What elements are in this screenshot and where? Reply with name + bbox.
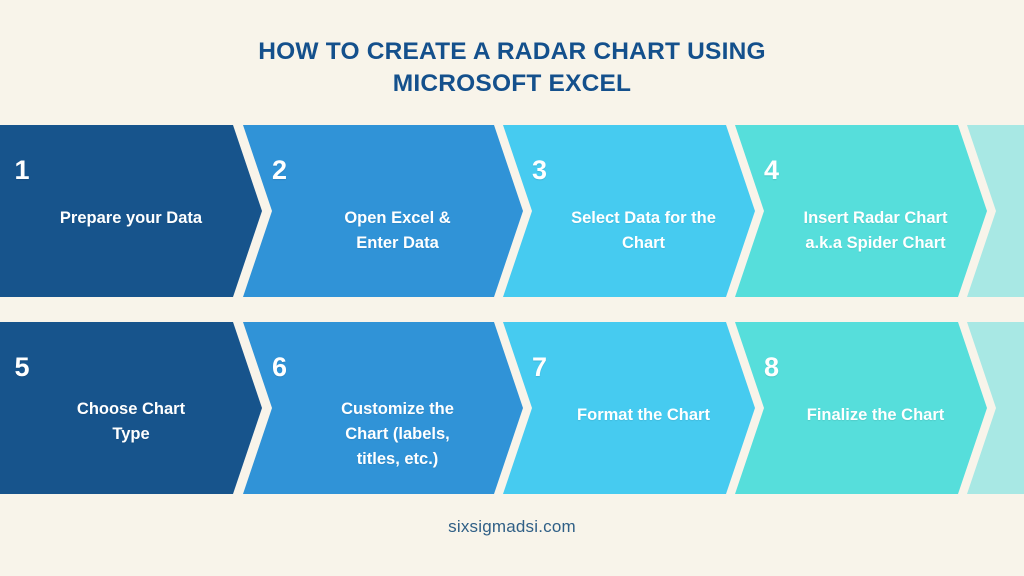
step-label-7: Format the Chart: [526, 403, 761, 428]
footer: sixsigmadsi.com: [0, 517, 1024, 537]
step-chevron-2[interactable]: 2 Open Excel & Enter Data: [243, 125, 523, 297]
step-number-7: 7: [532, 354, 755, 381]
footer-website-url[interactable]: sixsigmadsi.com: [448, 517, 576, 536]
step-label-3: Select Data for the Chart: [526, 206, 761, 256]
page-title-line-2: MICROSOFT EXCEL: [0, 68, 1024, 100]
step-number-5: 5: [15, 354, 248, 381]
step-number-6: 6: [272, 354, 523, 381]
step-chevron-7[interactable]: 7 Format the Chart: [503, 322, 755, 494]
step-label-6: Customize the Chart (labels, titles, etc…: [266, 397, 529, 472]
step-chevron-4[interactable]: 4 Insert Radar Chart a.k.a Spider Chart: [735, 125, 987, 297]
process-row-2: 5 Choose Chart Type 6 Customize the Char…: [0, 322, 1024, 494]
step-label-4: Insert Radar Chart a.k.a Spider Chart: [758, 206, 993, 256]
step-label-2: Open Excel & Enter Data: [266, 206, 529, 256]
process-row-1: 1 Prepare your Data 2 Open Excel & Enter…: [0, 125, 1024, 297]
step-number-2: 2: [272, 157, 523, 184]
step-label-5: Choose Chart Type: [9, 397, 254, 447]
step-label-1: Prepare your Data: [9, 206, 254, 231]
step-label-8: Finalize the Chart: [758, 403, 993, 428]
step-number-1: 1: [15, 157, 248, 184]
step-chevron-8[interactable]: 8 Finalize the Chart: [735, 322, 987, 494]
step-chevron-1[interactable]: 1 Prepare your Data: [0, 125, 262, 297]
step-number-8: 8: [764, 354, 987, 381]
step-number-3: 3: [532, 157, 755, 184]
step-chevron-5[interactable]: 5 Choose Chart Type: [0, 322, 262, 494]
step-number-4: 4: [764, 157, 987, 184]
page-title-line-1: HOW TO CREATE A RADAR CHART USING: [0, 36, 1024, 68]
page-title: HOW TO CREATE A RADAR CHART USING MICROS…: [0, 36, 1024, 100]
step-chevron-3[interactable]: 3 Select Data for the Chart: [503, 125, 755, 297]
step-chevron-6[interactable]: 6 Customize the Chart (labels, titles, e…: [243, 322, 523, 494]
